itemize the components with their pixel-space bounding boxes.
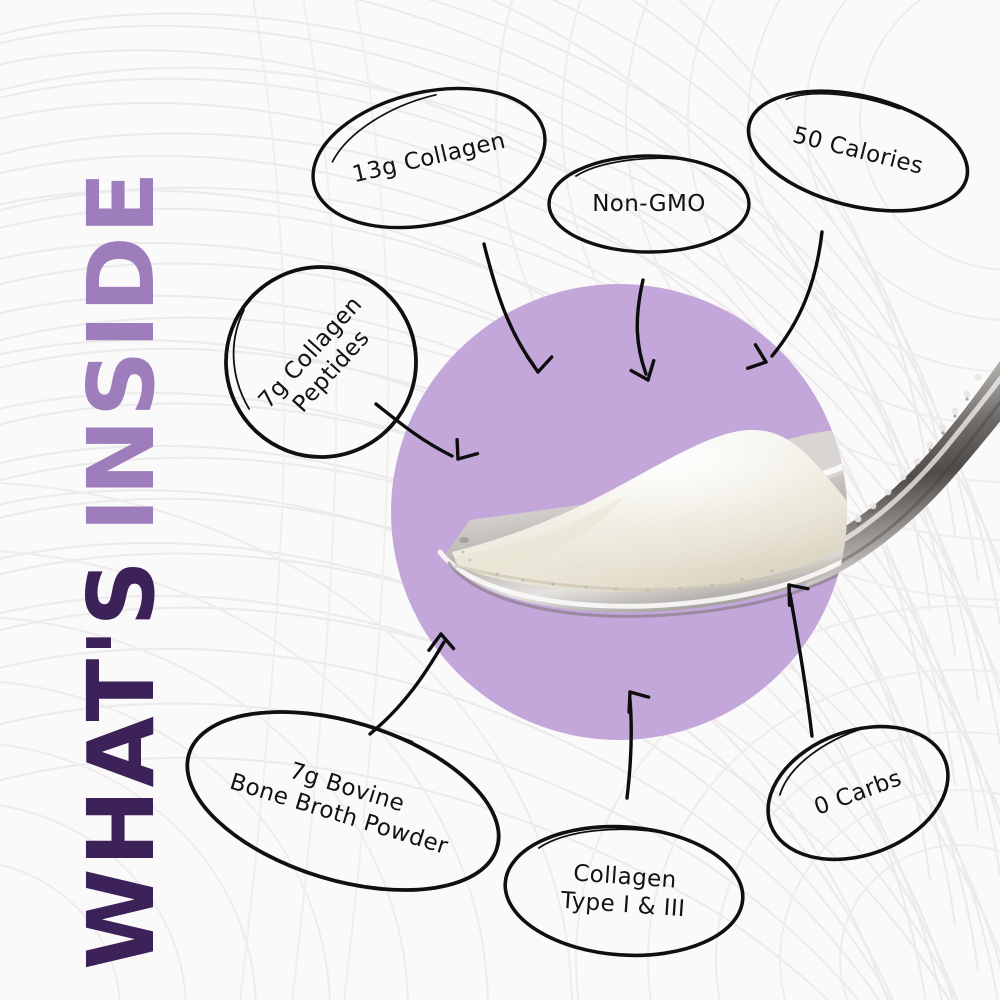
label-text: Collagen Type I & III: [554, 858, 694, 923]
infographic-canvas: WHAT'S INSIDE: [0, 0, 1000, 1000]
label-non-gmo[interactable]: Non-GMO: [546, 152, 752, 256]
label-text: Non-GMO: [586, 190, 712, 218]
label-collagen-type-i-iii[interactable]: Collagen Type I & III: [498, 816, 751, 967]
